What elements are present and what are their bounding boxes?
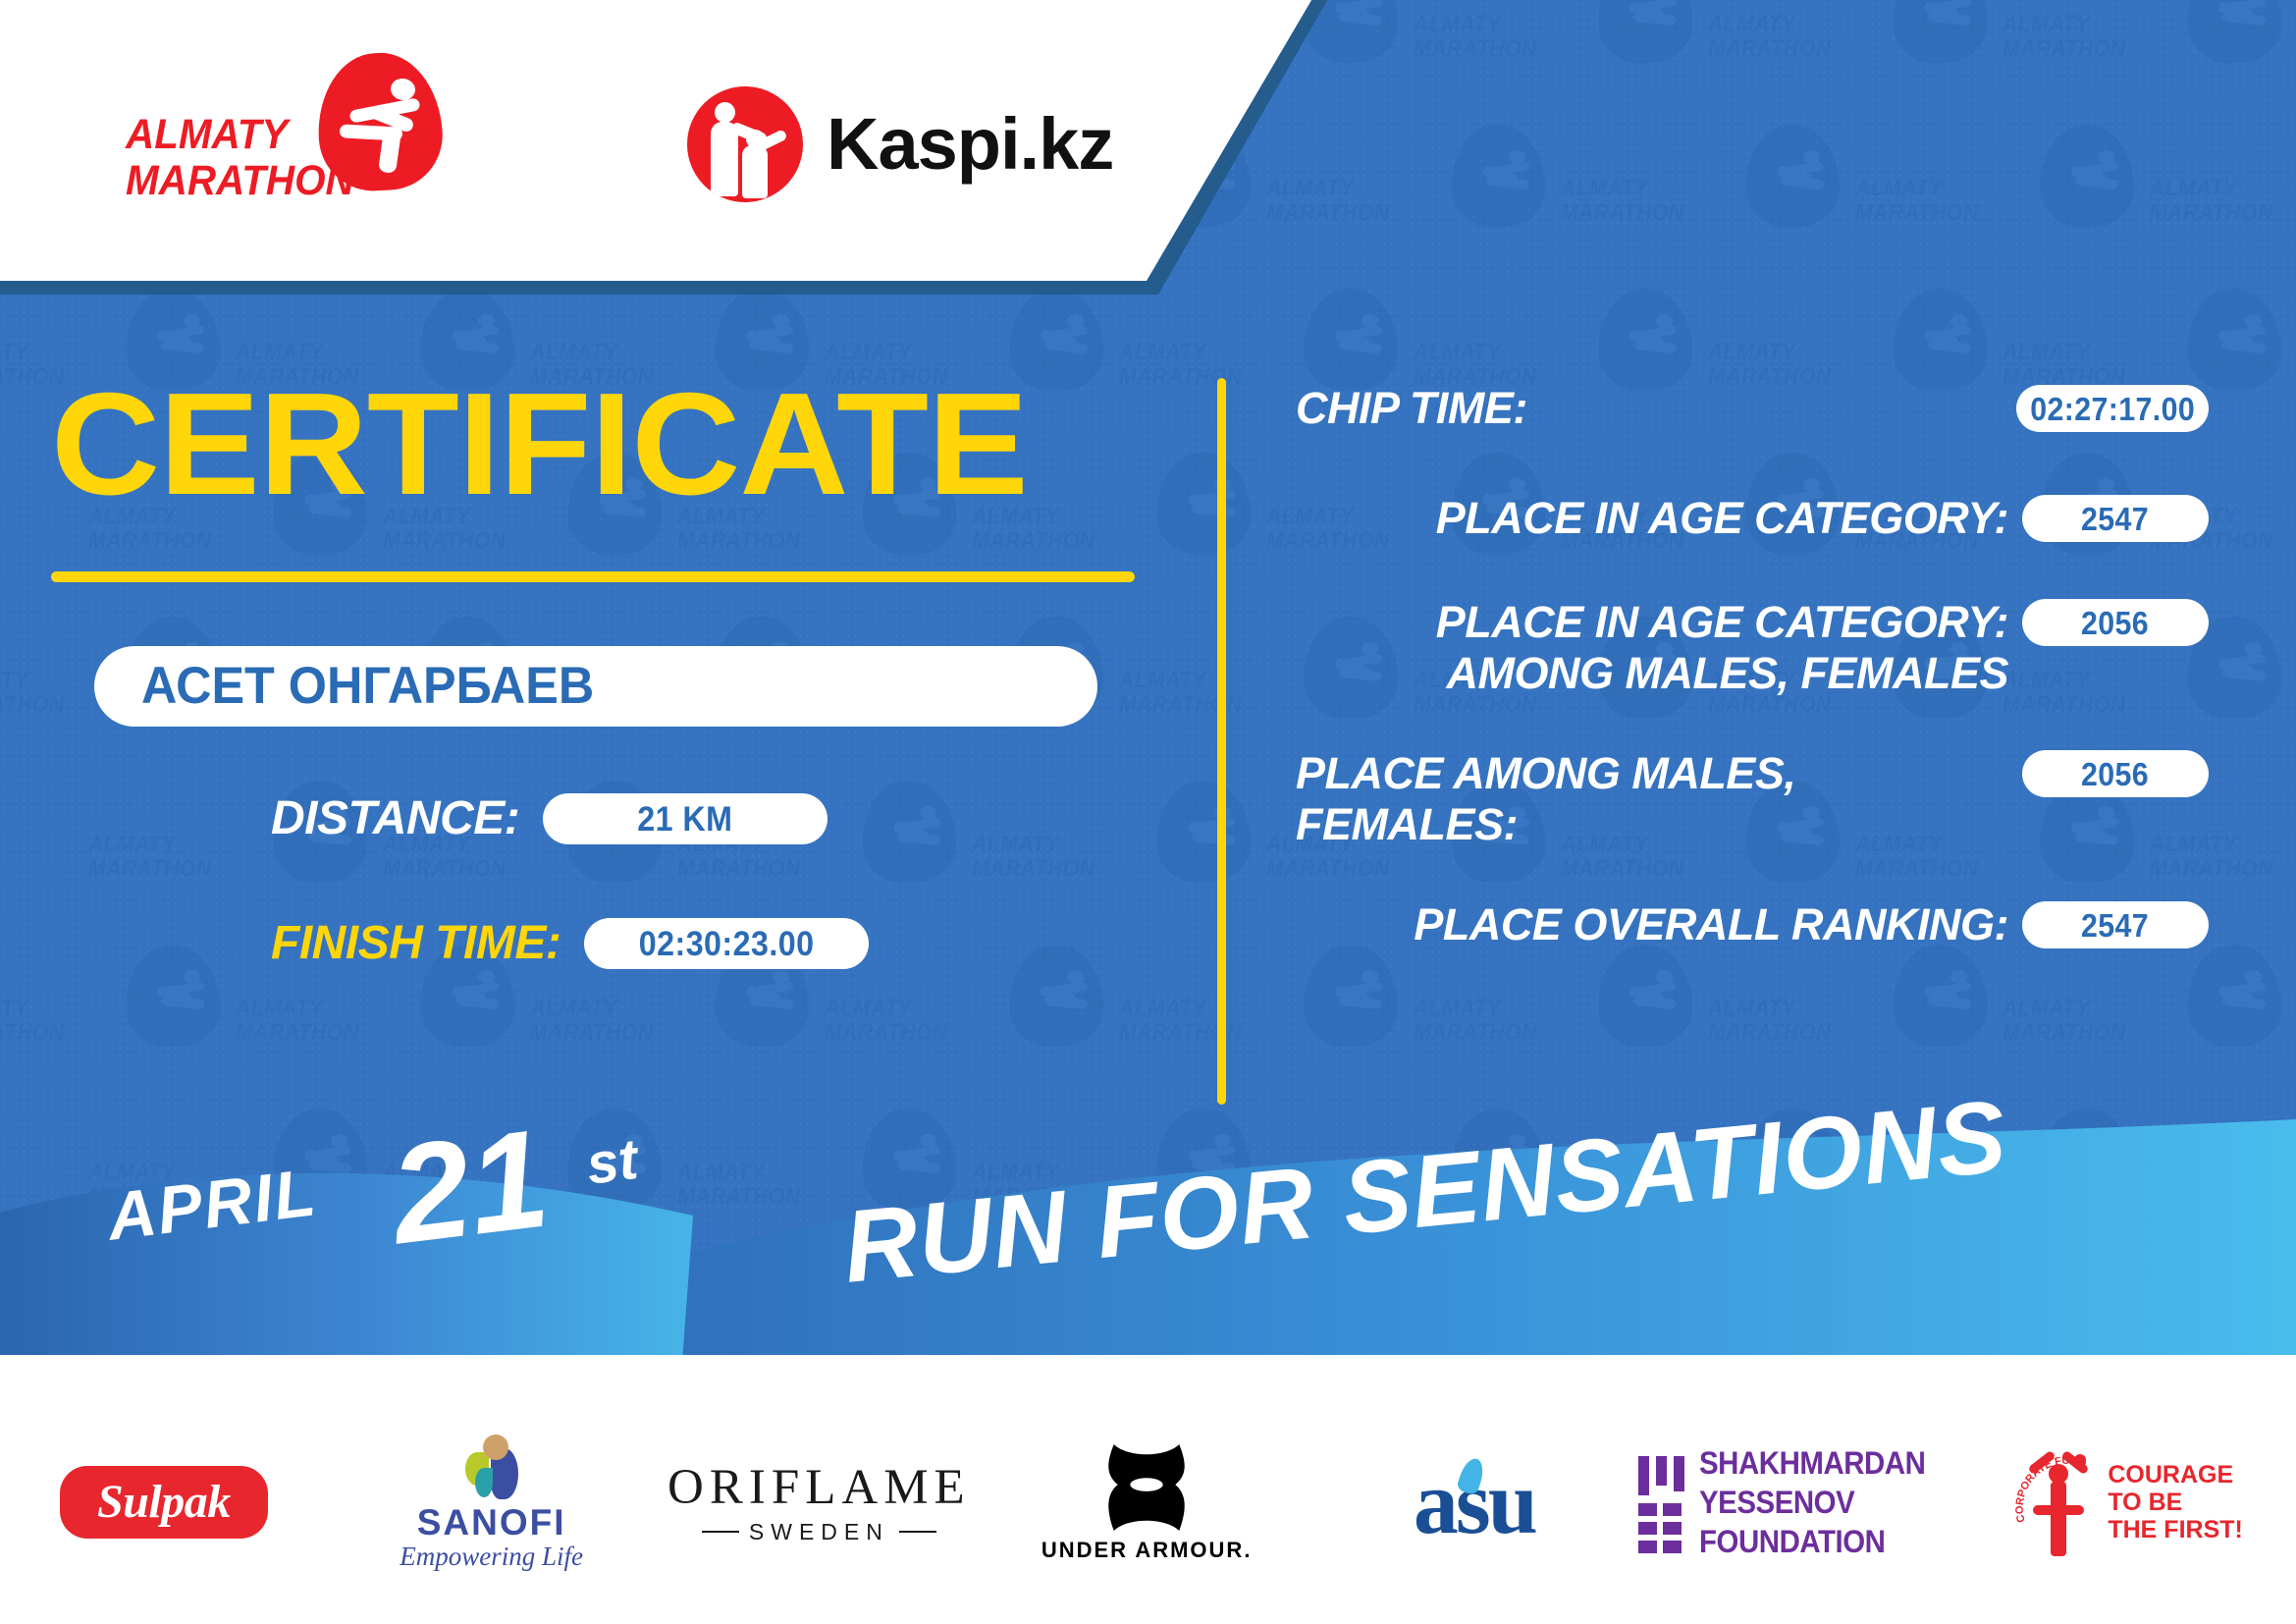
result-row-place-overall: PLACE OVERALL RANKING: 2547 bbox=[1296, 899, 2209, 954]
stat-row-finish-time: FINISH TIME: 02:30:23.00 bbox=[271, 918, 869, 969]
result-pill-place-among-males-females: 2056 bbox=[2022, 750, 2209, 797]
stat-pill-distance: 21 KM bbox=[543, 793, 828, 844]
courage-fund-logo: CORPORATE FUND COURAGE TO BE THE FIRST! bbox=[2021, 1448, 2243, 1556]
oriflame-sub-row: SWEDEN bbox=[702, 1520, 936, 1544]
stat-label-distance: DISTANCE: bbox=[271, 794, 519, 843]
stat-row-distance: DISTANCE: 21 KM bbox=[271, 793, 828, 844]
kaspi-logo: Kaspi.kz bbox=[687, 86, 1113, 202]
result-row-place-among-males-females: PLACE AMONG MALES, FEMALES: 2056 bbox=[1296, 748, 2209, 850]
sponsor-courage-fund: CORPORATE FUND COURAGE TO BE THE FIRST! bbox=[1968, 1429, 2296, 1576]
ribbon-day: 21 bbox=[384, 1109, 555, 1266]
oriflame-rule-left bbox=[702, 1531, 739, 1533]
sponsor-strip: Sulpak SANOFI Empowering Life ORIFLAME S… bbox=[0, 1414, 2296, 1591]
sulpak-wordmark: Sulpak bbox=[97, 1478, 231, 1527]
sulpak-logo: Sulpak bbox=[60, 1466, 268, 1539]
almaty-marathon-wordmark: ALMATY MARATHON bbox=[126, 112, 354, 204]
oriflame-logo: ORIFLAME SWEDEN bbox=[667, 1461, 971, 1544]
results-panel: CHIP TIME: 02:27:17.00 PLACE IN AGE CATE… bbox=[1296, 383, 2209, 996]
result-value-place-overall: 2547 bbox=[2081, 908, 2149, 943]
result-label-place-overall: PLACE OVERALL RANKING: bbox=[1296, 899, 2022, 950]
result-label-place-age-category-among: PLACE IN AGE CATEGORY: AMONG MALES, FEMA… bbox=[1296, 597, 2022, 699]
result-pill-place-overall: 2547 bbox=[2022, 901, 2209, 948]
kaspi-circle-icon bbox=[687, 86, 803, 202]
result-pill-place-age-category: 2547 bbox=[2022, 495, 2209, 542]
yessenov-mark-icon bbox=[1638, 1456, 1680, 1548]
result-row-place-age-category: PLACE IN AGE CATEGORY: 2547 bbox=[1296, 493, 2209, 548]
oriflame-rule-right bbox=[899, 1531, 936, 1533]
sanofi-tagline: Empowering Life bbox=[400, 1542, 583, 1571]
sponsor-oriflame: ORIFLAME SWEDEN bbox=[656, 1429, 984, 1576]
result-row-place-age-category-among: PLACE IN AGE CATEGORY: AMONG MALES, FEMA… bbox=[1296, 597, 2209, 699]
sponsor-sanofi: SANOFI Empowering Life bbox=[328, 1429, 656, 1576]
stat-value-distance: 21 KM bbox=[638, 801, 733, 838]
sanofi-figure-icon bbox=[457, 1435, 526, 1499]
participant-name-field: АСЕТ ОНГАРБАЕВ bbox=[94, 646, 1097, 727]
certificate-canvas: ALMATYMARATHONALMATYMARATHONALMATYMARATH… bbox=[0, 0, 2296, 1624]
result-value-chip-time: 02:27:17.00 bbox=[2030, 392, 2195, 426]
yessenov-wordmark: SHAKHMARDAN YESSENOV FOUNDATION bbox=[1699, 1443, 1947, 1561]
under-armour-icon bbox=[1098, 1442, 1195, 1533]
page-title: CERTIFICATE bbox=[51, 371, 1028, 518]
result-label-place-age-category: PLACE IN AGE CATEGORY: bbox=[1296, 493, 2022, 544]
result-pill-place-age-category-among: 2056 bbox=[2022, 599, 2209, 646]
almaty-marathon-logo: ALMATY MARATHON bbox=[126, 51, 450, 208]
sponsor-yessenov-foundation: SHAKHMARDAN YESSENOV FOUNDATION bbox=[1638, 1429, 1968, 1576]
sanofi-wordmark: SANOFI bbox=[417, 1503, 566, 1542]
asu-logo: asu bbox=[1414, 1456, 1535, 1548]
result-row-chip-time: CHIP TIME: 02:27:17.00 bbox=[1296, 383, 2209, 438]
under-armour-wordmark: UNDER ARMOUR. bbox=[1041, 1539, 1253, 1562]
stat-value-finish-time: 02:30:23.00 bbox=[639, 926, 815, 962]
sanofi-logo: SANOFI Empowering Life bbox=[400, 1435, 583, 1571]
sponsor-sulpak: Sulpak bbox=[0, 1429, 328, 1576]
result-value-place-among-males-females: 2056 bbox=[2081, 757, 2149, 791]
result-pill-chip-time: 02:27:17.00 bbox=[2016, 385, 2209, 432]
ribbon-ordinal: st bbox=[583, 1131, 640, 1194]
result-label-place-among-males-females: PLACE AMONG MALES, FEMALES: bbox=[1296, 748, 2022, 850]
courage-wordmark: COURAGE TO BE THE FIRST! bbox=[2108, 1461, 2243, 1543]
yessenov-logo: SHAKHMARDAN YESSENOV FOUNDATION bbox=[1638, 1443, 1968, 1561]
stat-pill-finish-time: 02:30:23.00 bbox=[584, 918, 869, 969]
title-underline bbox=[51, 571, 1135, 582]
result-value-place-age-category: 2547 bbox=[2081, 502, 2149, 536]
kaspi-wordmark: Kaspi.kz bbox=[827, 108, 1113, 181]
sponsor-asu: asu bbox=[1310, 1429, 1638, 1576]
oriflame-wordmark: ORIFLAME bbox=[667, 1461, 971, 1514]
result-value-place-age-category-among: 2056 bbox=[2081, 606, 2149, 640]
vertical-divider bbox=[1217, 378, 1226, 1105]
under-armour-logo: UNDER ARMOUR. bbox=[1041, 1442, 1253, 1562]
result-label-chip-time: CHIP TIME: bbox=[1296, 383, 2016, 434]
sponsor-under-armour: UNDER ARMOUR. bbox=[983, 1429, 1310, 1576]
courage-figure-icon bbox=[2021, 1448, 2096, 1556]
stat-label-finish-time: FINISH TIME: bbox=[271, 919, 561, 968]
participant-name: АСЕТ ОНГАРБАЕВ bbox=[141, 659, 594, 714]
oriflame-sub: SWEDEN bbox=[749, 1520, 889, 1544]
